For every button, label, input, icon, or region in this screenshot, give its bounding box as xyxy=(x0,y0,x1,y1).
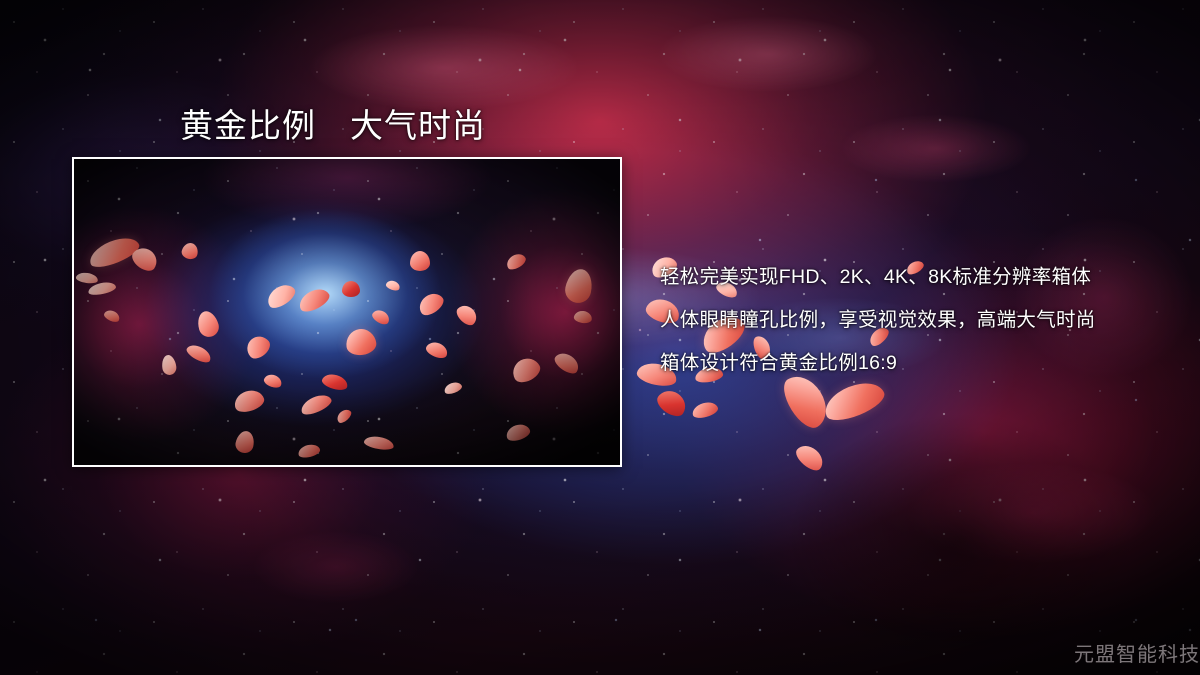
framed-image xyxy=(72,157,622,467)
framed-image-vignette xyxy=(74,159,620,465)
body-line-3: 箱体设计符合黄金比例16:9 xyxy=(660,342,1160,385)
body-line-1: 轻松完美实现FHD、2K、4K、8K标准分辨率箱体 xyxy=(660,256,1160,299)
body-line-2: 人体眼睛瞳孔比例，享受视觉效果，高端大气时尚 xyxy=(660,299,1160,342)
petal xyxy=(691,400,720,421)
petal xyxy=(792,441,827,475)
body-text-block: 轻松完美实现FHD、2K、4K、8K标准分辨率箱体 人体眼睛瞳孔比例，享受视觉效… xyxy=(660,256,1160,385)
framed-image-content xyxy=(74,159,620,465)
company-watermark: 元盟智能科技 xyxy=(1074,638,1200,667)
petal xyxy=(653,385,690,420)
presentation-slide: 黄金比例 大气时尚 xyxy=(0,0,1200,675)
slide-title: 黄金比例 大气时尚 xyxy=(180,99,486,147)
